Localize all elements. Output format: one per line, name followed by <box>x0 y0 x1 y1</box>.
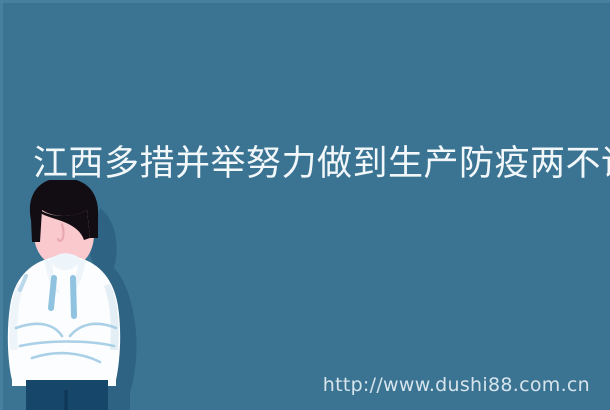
news-banner-image: 江西多措并举努力做到生产防疫两不误 http://www.dushi88.com… <box>0 0 610 410</box>
banner-headline: 江西多措并举努力做到生产防疫两不误 <box>33 143 583 185</box>
site-url-watermark: http://www.dushi88.com.cn <box>323 374 590 396</box>
left-edge-strip <box>0 0 3 410</box>
hoodie-person-illustration <box>4 180 154 410</box>
top-edge-strip <box>0 0 610 3</box>
